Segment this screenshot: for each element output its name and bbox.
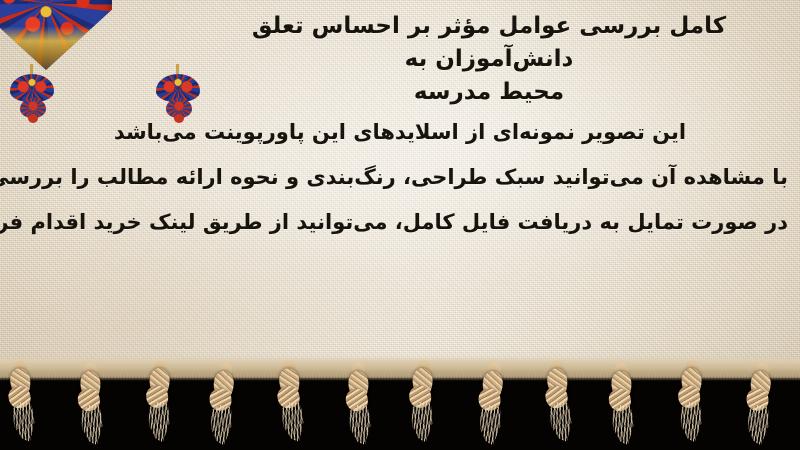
tassel-brush <box>348 405 371 446</box>
slide-canvas: کامل بررسی عوامل مؤثر بر احساس تعلق دانش… <box>0 0 800 450</box>
tassel-brush <box>611 405 634 446</box>
fringe-tassel <box>471 362 512 450</box>
slide-body-line-2: با مشاهده آن می‌توانید سبک طراحی، رنگ‌بن… <box>12 155 788 200</box>
fringe-tassel <box>674 360 710 447</box>
tassel-brush <box>280 401 305 443</box>
fringe-tassel <box>271 359 312 447</box>
tassel-brush <box>679 402 702 443</box>
tassel-brush <box>147 402 170 443</box>
slide-body-line-3: در صورت تمایل به دریافت فایل کامل، می‌تو… <box>12 200 788 245</box>
tassel-brush <box>410 402 433 443</box>
slide-body-line-1: این تصویر نمونه‌ای از اسلایدهای این پاور… <box>12 110 788 155</box>
carpet-fringe <box>0 360 800 450</box>
slide-title-line-1: کامل بررسی عوامل مؤثر بر احساس تعلق دانش… <box>196 10 782 76</box>
slide-title: کامل بررسی عوامل مؤثر بر احساس تعلق دانش… <box>196 10 782 109</box>
fringe-tassel <box>74 363 110 450</box>
fringe-tassel <box>3 359 44 447</box>
fringe-tassel <box>605 363 641 450</box>
fringe-tassel <box>740 362 781 450</box>
tassel-brush <box>548 401 573 443</box>
tassel-brush <box>11 401 36 443</box>
fringe-tassel <box>342 363 378 450</box>
fringe-tassel <box>142 360 178 447</box>
tassel-brush <box>208 404 233 446</box>
slide-body: این تصویر نمونه‌ای از اسلایدهای این پاور… <box>12 110 788 245</box>
slide-title-line-2: محیط مدرسه <box>196 76 782 109</box>
tassel-brush <box>745 404 770 446</box>
fringe-tassel <box>203 362 244 450</box>
fringe-tassel <box>405 360 441 447</box>
tassel-brush <box>80 405 103 446</box>
fringe-tassel <box>540 359 581 447</box>
tassel-brush <box>477 404 502 446</box>
